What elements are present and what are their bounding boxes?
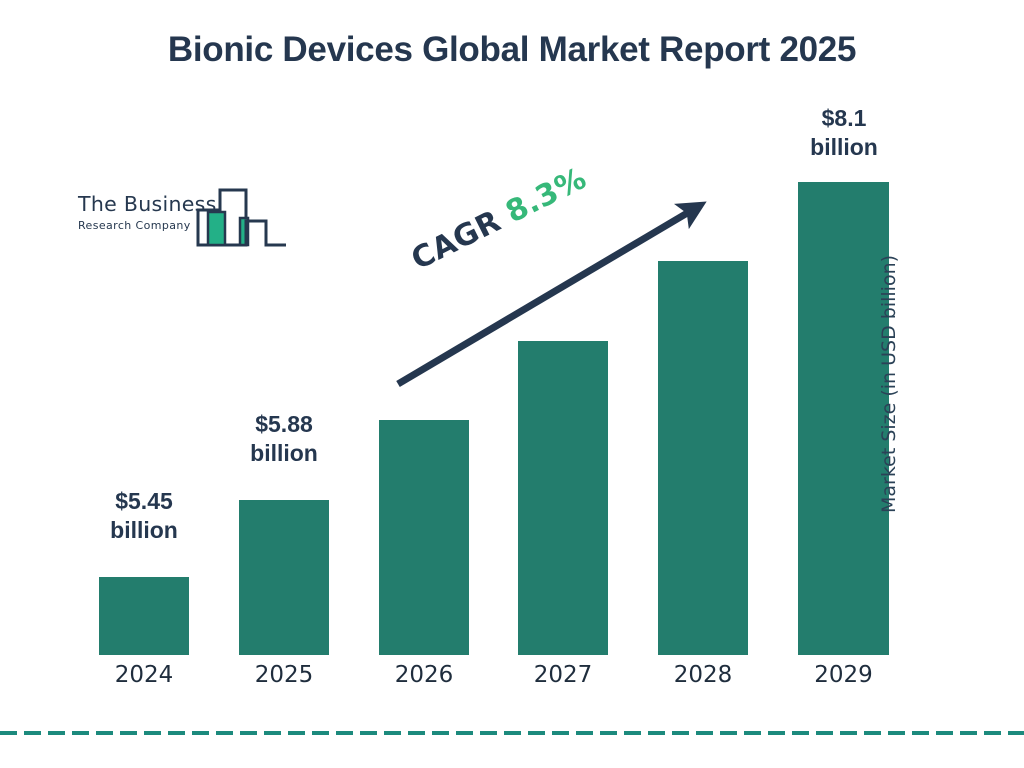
bar-2028 (658, 261, 748, 655)
cagr-label: CAGR (406, 204, 507, 278)
x-axis-tick-2026: 2026 (379, 662, 469, 688)
bar-value-amount-2025: $5.88 (224, 410, 344, 439)
bar-chart: $5.45 billion $5.88 billion $8.1 billion… (0, 0, 1024, 768)
bar-2025 (239, 500, 329, 655)
bar-2026 (379, 420, 469, 655)
bar-value-unit-2024: billion (84, 516, 204, 545)
bar-value-label-2024: $5.45 billion (84, 487, 204, 546)
bar-value-label-2025: $5.88 billion (224, 410, 344, 469)
bar-value-label-2029: $8.1 billion (784, 104, 904, 163)
bar-value-amount-2024: $5.45 (84, 487, 204, 516)
cagr-value: 8.3% (500, 161, 592, 230)
footer-divider (0, 731, 1024, 735)
x-axis-tick-2027: 2027 (518, 662, 608, 688)
bar-value-unit-2025: billion (224, 439, 344, 468)
bar-2027 (518, 341, 608, 655)
x-axis-tick-2029: 2029 (798, 662, 889, 688)
bar-value-unit-2029: billion (784, 133, 904, 162)
y-axis-title: Market Size (in USD billion) (878, 255, 900, 513)
report-chart-page: Bionic Devices Global Market Report 2025… (0, 0, 1024, 768)
bar-2024 (99, 577, 189, 655)
x-axis-tick-2028: 2028 (658, 662, 748, 688)
bar-2029 (798, 182, 889, 655)
cagr-annotation: CAGR 8.3% (406, 161, 592, 277)
bar-value-amount-2029: $8.1 (784, 104, 904, 133)
x-axis-tick-2025: 2025 (239, 662, 329, 688)
x-axis-tick-2024: 2024 (99, 662, 189, 688)
